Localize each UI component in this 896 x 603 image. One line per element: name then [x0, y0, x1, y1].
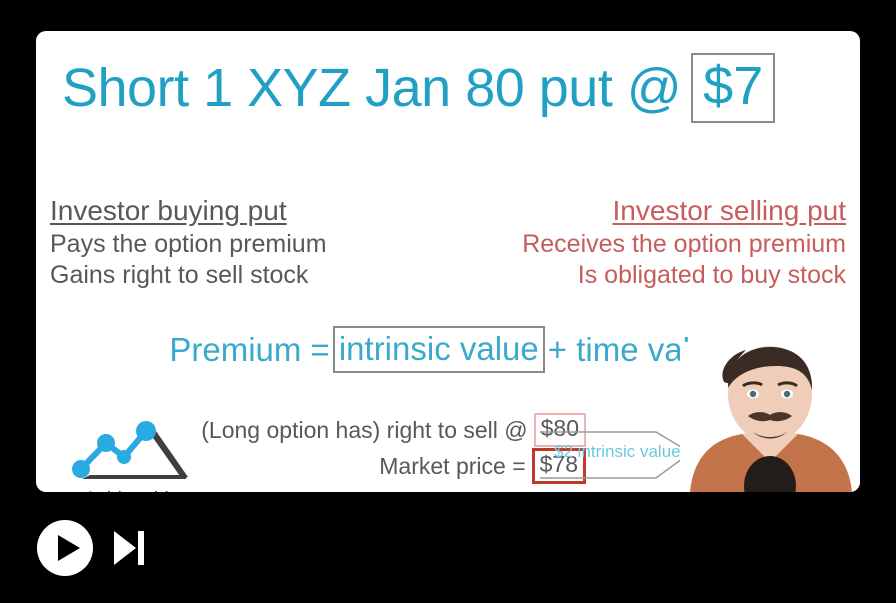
- seller-column-heading: Investor selling put: [522, 194, 846, 228]
- formula-intrinsic-value-box: intrinsic value: [333, 326, 545, 373]
- slide-canvas: Short 1 XYZ Jan 80 put @ $7 Investor buy…: [36, 31, 860, 492]
- player-controls: [0, 492, 896, 603]
- play-button[interactable]: [37, 520, 93, 576]
- next-button[interactable]: [114, 526, 158, 570]
- buyer-column: Investor buying put Pays the option prem…: [50, 194, 327, 290]
- seller-column: Investor selling put Receives the option…: [522, 194, 846, 290]
- video-player: Short 1 XYZ Jan 80 put @ $7 Investor buy…: [0, 0, 896, 603]
- skip-next-bar: [138, 531, 144, 565]
- buyer-column-line-1: Pays the option premium: [50, 229, 327, 260]
- seller-column-line-1: Receives the option premium: [522, 229, 846, 260]
- title-premium-box: $7: [691, 53, 775, 123]
- buyer-column-line-2: Gains right to sell stock: [50, 260, 327, 291]
- example-row-strike: (Long option has) right to sell @ $80: [156, 413, 586, 447]
- example-row-market-label: Market price =: [379, 453, 525, 480]
- achievable-logo: Achievable: [64, 417, 204, 492]
- play-icon: [58, 535, 80, 561]
- presenter-webcam: [680, 342, 860, 492]
- example-row-strike-label: (Long option has) right to sell @: [201, 417, 527, 444]
- presenter-webcam-image: [680, 342, 860, 492]
- formula-prefix: Premium =: [169, 333, 329, 366]
- buyer-column-heading: Investor buying put: [50, 194, 327, 228]
- example-block: (Long option has) right to sell @ $80 Ma…: [156, 413, 586, 485]
- seller-column-line-2: Is obligated to buy stock: [522, 260, 846, 291]
- skip-next-icon: [114, 531, 136, 565]
- slide-title: Short 1 XYZ Jan 80 put @ $7: [62, 53, 775, 123]
- intrinsic-value-annotation: $2 intrinsic value: [554, 442, 681, 462]
- example-row-market: Market price = $78: [156, 449, 586, 483]
- page-title: Short 1 XYZ Jan 80 put @: [62, 61, 681, 115]
- achievable-logo-mark: [64, 417, 204, 489]
